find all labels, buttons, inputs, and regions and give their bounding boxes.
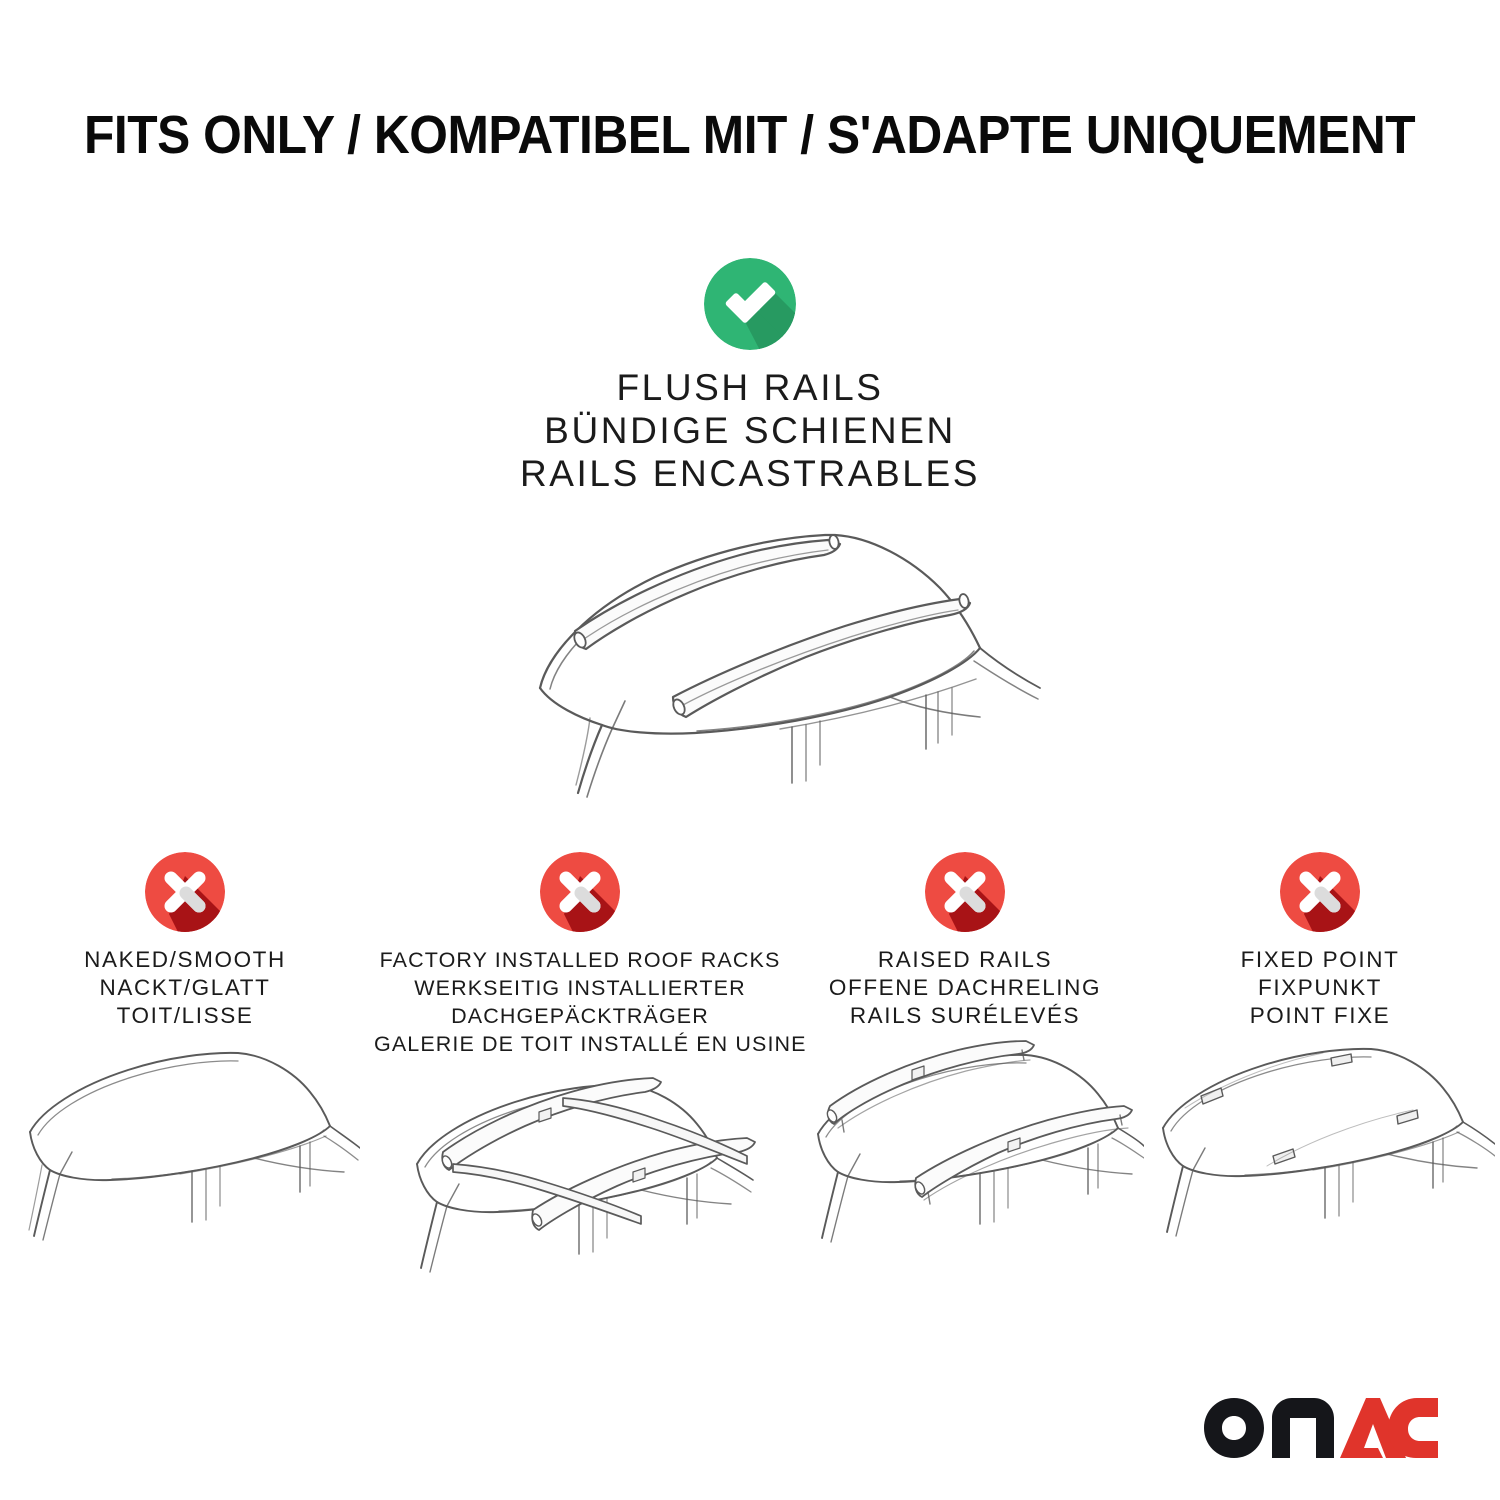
- incompatible-options-row: NAKED/SMOOTH NACKT/GLATT TOIT/LISSE: [0, 852, 1500, 1318]
- car-roof-raised-rails-illustration: [794, 1040, 1136, 1290]
- cross-circle-icon: [1280, 852, 1360, 932]
- option-label-line-fr: GALERIE DE TOIT INSTALLÉ EN USINE: [374, 1030, 786, 1058]
- option-label-line-de-1: WERKSEITIG INSTALLIERTER: [374, 974, 786, 1002]
- cross-circle-icon: [540, 852, 620, 932]
- option-label: NAKED/SMOOTH NACKT/GLATT TOIT/LISSE: [8, 946, 362, 1030]
- hero-label-line-fr: RAILS ENCASTRABLES: [0, 452, 1500, 495]
- hero-section: FLUSH RAILS BÜNDIGE SCHIENEN RAILS ENCAS…: [0, 258, 1500, 803]
- option-label: FACTORY INSTALLED ROOF RACKS WERKSEITIG …: [374, 946, 786, 1058]
- option-label-line-en: FIXED POINT: [1144, 946, 1496, 974]
- car-roof-naked-smooth-illustration: [8, 1040, 362, 1290]
- option-label-line-fr: TOIT/LISSE: [8, 1002, 362, 1030]
- page-title: FITS ONLY / KOMPATIBEL MIT / S'ADAPTE UN…: [84, 104, 1317, 166]
- option-label-line-en: RAISED RAILS: [794, 946, 1136, 974]
- cross-circle-icon: [145, 852, 225, 932]
- hero-label-line-de: BÜNDIGE SCHIENEN: [0, 409, 1500, 452]
- option-label-line-fr: POINT FIXE: [1144, 1002, 1496, 1030]
- cross-circle-icon: [925, 852, 1005, 932]
- option-factory-roof-racks: FACTORY INSTALLED ROOF RACKS WERKSEITIG …: [370, 852, 790, 1318]
- option-label: FIXED POINT FIXPUNKT POINT FIXE: [1144, 946, 1496, 1030]
- option-label-line-de: NACKT/GLATT: [8, 974, 362, 1002]
- option-label-line-de-2: DACHGEPÄCKTRÄGER: [374, 1002, 786, 1030]
- option-label-line-fr: RAILS SURÉLEVÉS: [794, 1002, 1136, 1030]
- option-naked-smooth: NAKED/SMOOTH NACKT/GLATT TOIT/LISSE: [0, 852, 370, 1290]
- car-roof-fixed-point-illustration: [1144, 1040, 1496, 1290]
- option-label-line-en: FACTORY INSTALLED ROOF RACKS: [374, 946, 786, 974]
- hero-label: FLUSH RAILS BÜNDIGE SCHIENEN RAILS ENCAS…: [0, 366, 1500, 495]
- option-label-line-de: OFFENE DACHRELING: [794, 974, 1136, 1002]
- car-roof-factory-roof-racks-illustration: [374, 1068, 786, 1318]
- car-roof-with-flush-rails-illustration: [0, 513, 1500, 803]
- option-label-line-en: NAKED/SMOOTH: [8, 946, 362, 974]
- option-label: RAISED RAILS OFFENE DACHRELING RAILS SUR…: [794, 946, 1136, 1030]
- option-fixed-point: FIXED POINT FIXPUNKT POINT FIXE: [1140, 852, 1500, 1290]
- check-circle-icon: [704, 258, 796, 350]
- hero-label-line-en: FLUSH RAILS: [0, 366, 1500, 409]
- option-label-line-de: FIXPUNKT: [1144, 974, 1496, 1002]
- omac-logo: [1202, 1396, 1438, 1460]
- option-raised-rails: RAISED RAILS OFFENE DACHRELING RAILS SUR…: [790, 852, 1140, 1290]
